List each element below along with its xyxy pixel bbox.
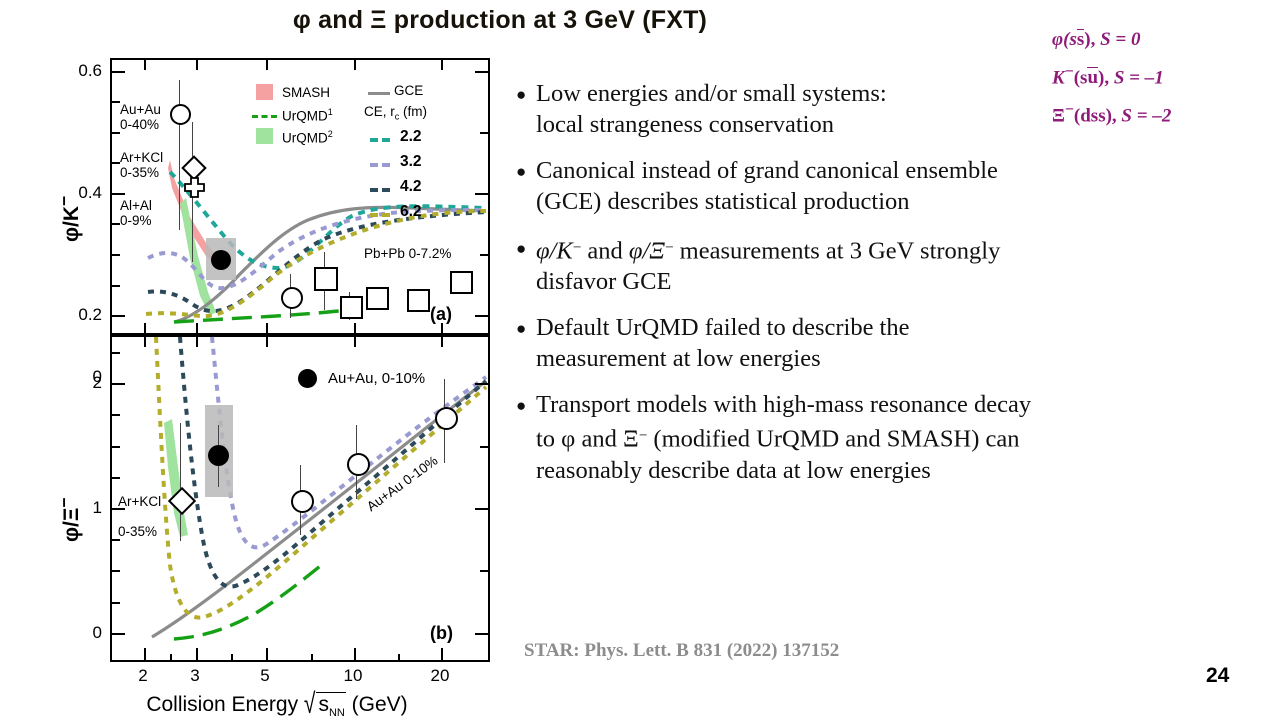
- bullet-dot: ●: [516, 155, 536, 217]
- xtick-20: 20: [420, 666, 460, 686]
- panel-b-ytick-0: 0: [58, 623, 102, 643]
- panel-a-phi-over-k: Au+Au 0-40% Ar+KCl 0-35% Al+Al 0-9% Pb+P…: [110, 58, 490, 335]
- bullet-local-strangeness: ● Low energies and/or small systems: loc…: [516, 78, 1258, 140]
- bullet-dot: ●: [516, 78, 536, 140]
- xtick-2: 2: [123, 666, 163, 686]
- xtick-5: 5: [245, 666, 285, 686]
- panel-b-ticks: [112, 337, 488, 660]
- bullet-text: φ/K− and φ/Ξ− measurements at 3 GeV stro…: [536, 232, 1258, 297]
- panel-b-ytick-2: 2: [58, 373, 102, 393]
- bullet-text: Low energies and/or small systems: local…: [536, 78, 1258, 140]
- panel-b-ylabel: φ/Ξ−: [54, 497, 84, 542]
- bullet-list: ● Low energies and/or small systems: loc…: [516, 78, 1258, 501]
- xtick-3: 3: [175, 666, 215, 686]
- bullet-default-urqmd-failed: ● Default UrQMD failed to describe the m…: [516, 312, 1258, 374]
- xtick-10: 10: [333, 666, 373, 686]
- bullet-dot: ●: [516, 389, 536, 485]
- bullet-measurements-disfavor-gce: ● φ/K− and φ/Ξ− measurements at 3 GeV st…: [516, 232, 1258, 297]
- panel-b-phi-over-xi: Ar+KCl 0-35% Au+Au 0-10% (b) Au+Au, 0-10…: [110, 335, 490, 662]
- figure-phi-production: Au+Au 0-40% Ar+KCl 0-35% Al+Al 0-9% Pb+P…: [52, 52, 502, 672]
- panel-a-ytick-0.6: 0.6: [58, 61, 102, 81]
- x-axis-label: Collision Energy √sNN (GeV): [52, 692, 502, 719]
- panel-a-ytick-0.2: 0.2: [58, 305, 102, 325]
- bullet-transport-models: ● Transport models with high-mass resona…: [516, 389, 1258, 485]
- bullet-dot: ●: [516, 232, 536, 297]
- bullet-dot: ●: [516, 312, 536, 374]
- bullet-text: Transport models with high-mass resonanc…: [536, 389, 1258, 485]
- page-number: 24: [1206, 664, 1229, 688]
- panel-a-ticks: [112, 60, 488, 333]
- quark-line-phi: φ(ss), S = 0: [1052, 24, 1268, 56]
- bullet-canonical-ensemble: ● Canonical instead of grand canonical e…: [516, 155, 1258, 217]
- panel-a-ylabel: φ/K−: [54, 196, 84, 242]
- bullet-text: Default UrQMD failed to describe the mea…: [536, 312, 1258, 374]
- page-title: φ and Ξ production at 3 GeV (FXT): [0, 6, 1000, 35]
- citation: STAR: Phys. Lett. B 831 (2022) 137152: [524, 640, 839, 662]
- bullet-text: Canonical instead of grand canonical ens…: [536, 155, 1258, 217]
